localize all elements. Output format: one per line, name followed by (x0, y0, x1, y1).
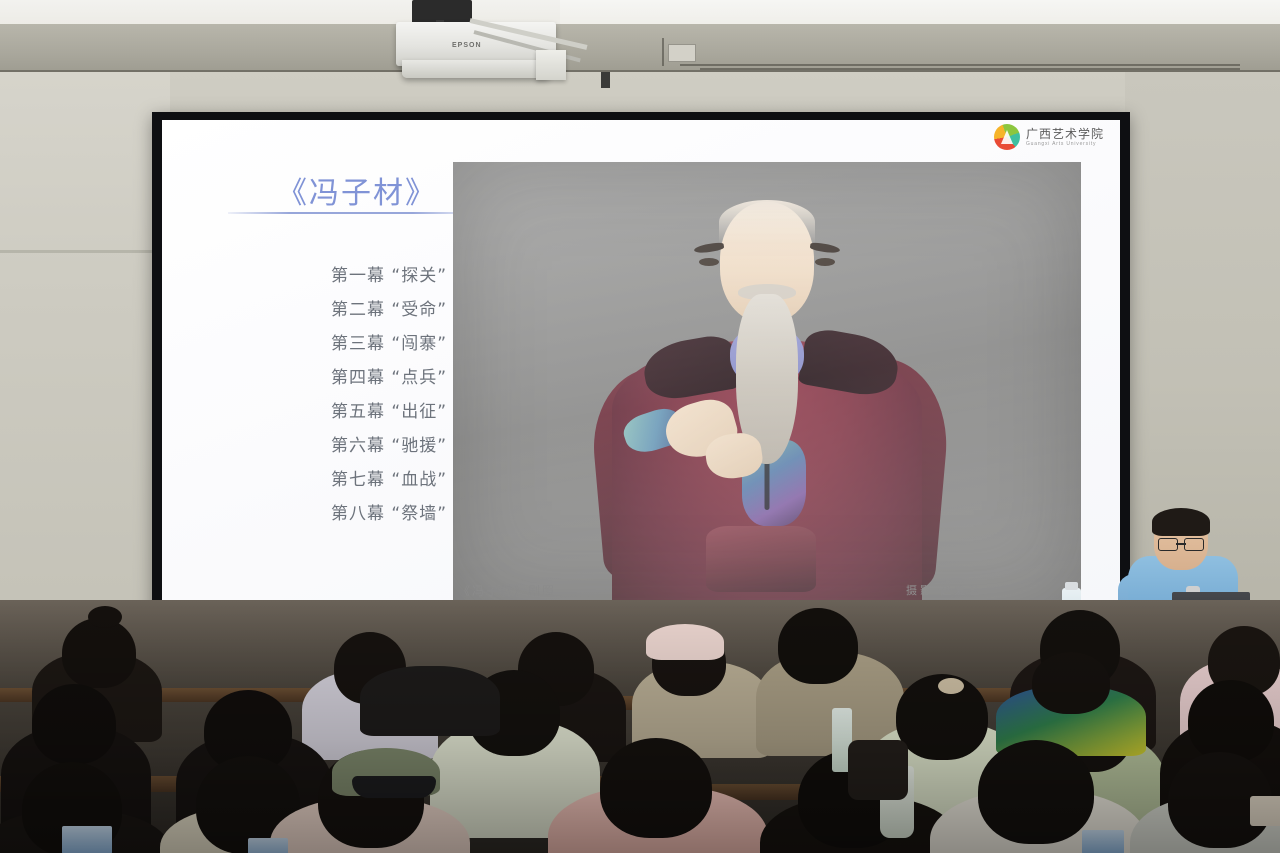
hair-bun (88, 606, 122, 628)
cable-drop (662, 38, 664, 66)
slide-title: 《冯子材》 (232, 168, 482, 212)
cap-brim-icon (352, 776, 436, 798)
slide-title-underline (228, 212, 474, 214)
bag-strap (848, 740, 908, 800)
wall-speaker-bracket (601, 72, 610, 88)
ceiling-cable-main (680, 64, 1240, 66)
logo-emblem-icon (994, 124, 1020, 150)
list-item (600, 738, 712, 838)
list-item (1188, 680, 1274, 762)
phone-screen (248, 838, 288, 853)
list-item (62, 618, 136, 688)
slide-photo-opera-performer (453, 162, 1081, 609)
ceiling-panel-right (560, 0, 1280, 26)
university-logo: 广西艺术学院 Guangxi Arts University (994, 124, 1104, 150)
phone-screen (62, 826, 112, 853)
logo-name-en: Guangxi Arts University (1026, 142, 1104, 147)
presentation-slide: 广西艺术学院 Guangxi Arts University 《冯子材》 第一幕… (162, 120, 1120, 616)
slide-caption-left: 《冯子材》剧照 (458, 582, 556, 599)
glasses-icon (1158, 538, 1204, 549)
ceiling-cable-second (700, 68, 1240, 70)
list-item (360, 666, 500, 736)
logo-name-cn: 广西艺术学院 (1026, 128, 1104, 140)
audience (0, 600, 1280, 853)
list-item (778, 608, 858, 684)
speaker-hair (1152, 508, 1210, 536)
cap-icon (646, 624, 724, 660)
list-item (1032, 652, 1110, 714)
lecture-hall-photo: EPSON 广西艺术学院 Guangxi Arts University 《冯子… (0, 0, 1280, 853)
wall-seam (0, 250, 170, 253)
projector-brand-label: EPSON (452, 42, 482, 49)
bag-item (1250, 796, 1280, 826)
slide-caption-right: 摄影 赵爱艺 (906, 582, 983, 598)
ceiling-beam (0, 24, 1280, 74)
water-bottle-cap (1065, 582, 1078, 590)
projection-screen: 广西艺术学院 Guangxi Arts University 《冯子材》 第一幕… (162, 120, 1120, 616)
phone-screen (1082, 830, 1124, 853)
wall-speaker (536, 50, 566, 80)
photo-vignette (453, 162, 1081, 609)
hair-clip-icon (938, 678, 964, 694)
list-item (978, 740, 1094, 844)
wall-junction-box (668, 44, 696, 62)
list-item (32, 684, 116, 764)
wall-left (0, 72, 170, 632)
logo-text: 广西艺术学院 Guangxi Arts University (1026, 128, 1104, 147)
projector-lens-housing (402, 60, 550, 78)
